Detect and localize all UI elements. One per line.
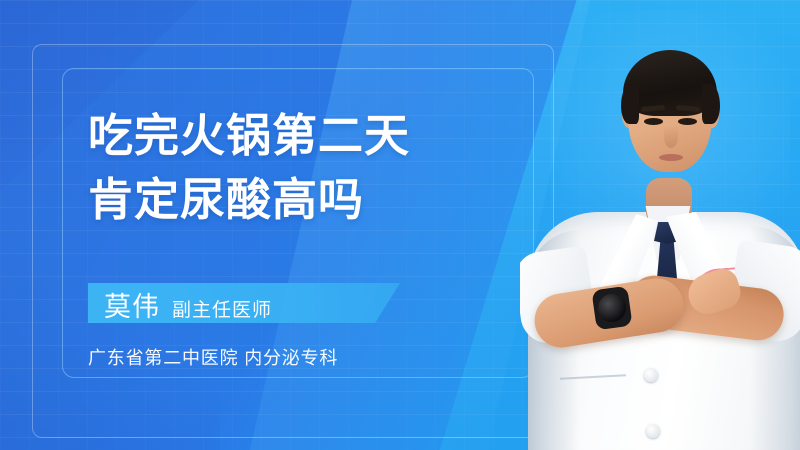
doctor-name: 莫伟	[104, 285, 160, 324]
hair-side-right	[702, 84, 720, 124]
mouth	[659, 154, 683, 161]
coat-button-lower	[646, 424, 660, 438]
page-title: 吃完火锅第二天 肯定尿酸高吗	[88, 104, 518, 232]
title-line-2: 肯定尿酸高吗	[88, 168, 518, 232]
eye-right	[678, 118, 697, 125]
hospital-affiliation: 广东省第二中医院 内分泌专科	[88, 344, 338, 370]
doctor-rank: 副主任医师	[172, 295, 272, 322]
hair-side-left	[621, 84, 639, 124]
nose	[664, 126, 678, 148]
doctor-portrait	[520, 0, 800, 450]
coat-button-upper	[644, 368, 658, 382]
eye-left	[644, 118, 663, 125]
doctor-video-cover: 吃完火锅第二天 肯定尿酸高吗 莫伟 副主任医师 广东省第二中医院 内分泌专科	[0, 0, 800, 450]
doctor-identity: 莫伟 副主任医师	[104, 285, 272, 324]
title-line-1: 吃完火锅第二天	[88, 104, 518, 168]
